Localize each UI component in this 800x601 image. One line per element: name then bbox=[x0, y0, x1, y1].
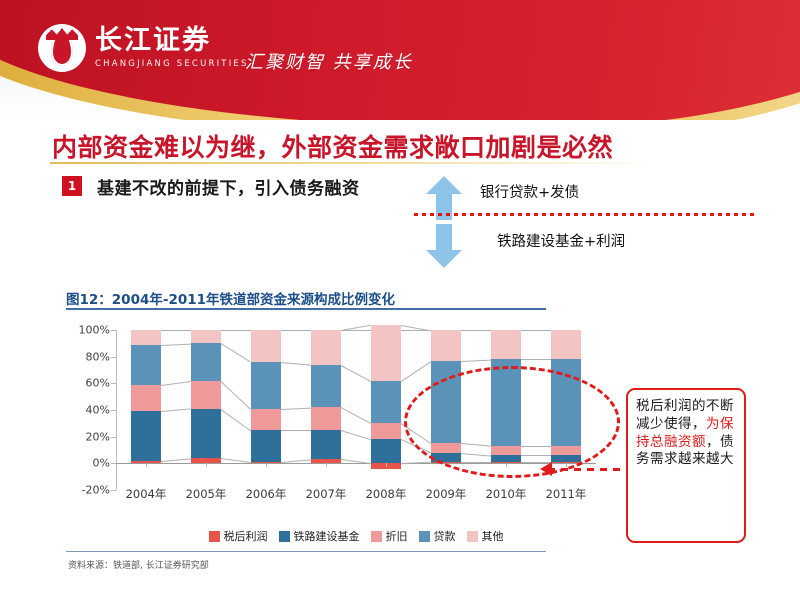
legend-swatch bbox=[371, 531, 382, 542]
stack-connector-line bbox=[341, 430, 371, 440]
stack-connector-line bbox=[461, 359, 491, 361]
flow-label-inflow: 银行贷款+发债 bbox=[480, 181, 579, 202]
chart-bar-segment bbox=[251, 362, 281, 409]
chart-bar-segment bbox=[311, 430, 341, 459]
stack-connector-line-top bbox=[521, 330, 551, 331]
title-underline bbox=[50, 162, 662, 164]
chart-bar-segment bbox=[311, 407, 341, 430]
stack-connector-line bbox=[281, 430, 311, 431]
stack-connector-line bbox=[341, 407, 371, 424]
chart-bar-segment bbox=[551, 330, 581, 359]
chart-title: 图12：2004年-2011年铁道部资金来源构成比例变化 bbox=[66, 288, 395, 308]
chart-source-note: 资料来源：铁道部, 长江证券研究部 bbox=[68, 558, 209, 571]
legend-swatch bbox=[209, 531, 220, 542]
legend-label: 其他 bbox=[482, 528, 504, 544]
x-axis-tick-label: 2006年 bbox=[246, 486, 287, 502]
stack-connector-line bbox=[521, 359, 551, 360]
legend-label: 折旧 bbox=[386, 528, 408, 544]
chart-bar-segment bbox=[131, 411, 161, 460]
stack-connector-line bbox=[401, 361, 432, 382]
x-axis-tick-label: 2004年 bbox=[126, 486, 167, 502]
stack-connector-line bbox=[220, 343, 251, 363]
legend-swatch bbox=[467, 531, 478, 542]
y-axis-tick bbox=[111, 437, 116, 438]
stack-connector-line-top bbox=[341, 330, 371, 331]
chart-bar-segment bbox=[311, 330, 341, 365]
stack-connector-line bbox=[161, 343, 191, 345]
section-subtitle: 基建不改的前提下，引入债务融资 bbox=[97, 174, 360, 199]
chart-bar-segment bbox=[191, 330, 221, 343]
chart-bar-segment bbox=[191, 381, 221, 409]
callout-connector-line bbox=[548, 468, 628, 471]
y-axis-line bbox=[116, 330, 117, 490]
chart-top-rule bbox=[66, 308, 546, 310]
header-tagline: 汇聚财智 共享成长 bbox=[245, 48, 413, 74]
x-axis-tick-label: 2005年 bbox=[186, 486, 227, 502]
callout-highlight-2: 总融资额 bbox=[650, 434, 706, 450]
section-number-badge: 1 bbox=[62, 176, 82, 196]
y-axis-tick-label: -20% bbox=[64, 484, 110, 497]
x-axis-tick-label: 2009年 bbox=[426, 486, 467, 502]
x-axis-tick bbox=[206, 463, 207, 467]
legend-item: 税后利润 bbox=[209, 528, 268, 544]
y-axis-tick-label: 60% bbox=[64, 377, 110, 390]
callout-line-3: 得， bbox=[678, 416, 706, 432]
y-axis-tick bbox=[111, 383, 116, 384]
x-axis-tick bbox=[266, 463, 267, 467]
chart-bar-segment bbox=[191, 409, 221, 458]
chart-bar-segment bbox=[251, 409, 281, 430]
chart-bar-segment bbox=[191, 343, 221, 380]
stack-connector-line bbox=[220, 409, 251, 431]
stack-connector-line-top bbox=[221, 330, 251, 331]
chart-bar-segment bbox=[491, 330, 521, 359]
stack-connector-line-top bbox=[461, 330, 491, 331]
highlight-ellipse-annotation bbox=[404, 366, 620, 478]
slide: 长江证券 CHANGJIANG SECURITIES 汇聚财智 共享成长 内部资… bbox=[0, 0, 800, 601]
stack-connector-line bbox=[281, 362, 311, 366]
legend-item: 折旧 bbox=[371, 528, 408, 544]
y-axis-tick bbox=[111, 410, 116, 411]
y-axis-tick-label: 0% bbox=[64, 457, 110, 470]
flow-label-outflow: 铁路建设基金+利润 bbox=[497, 230, 625, 251]
x-axis-tick-label: 2010年 bbox=[486, 486, 527, 502]
callout-line-4: ， bbox=[706, 434, 720, 450]
chart-bar-segment bbox=[131, 345, 161, 385]
chart-legend: 税后利润铁路建设基金折旧贷款其他 bbox=[116, 528, 596, 544]
chart-bar-segment bbox=[371, 325, 401, 381]
legend-label: 税后利润 bbox=[224, 528, 268, 544]
chart-bar-segment bbox=[251, 330, 281, 362]
chart-bar-segment bbox=[131, 385, 161, 412]
chart-bar-segment bbox=[131, 330, 161, 345]
chart-bar-segment bbox=[311, 365, 341, 408]
arrow-down-icon bbox=[424, 224, 464, 270]
stack-connector-line bbox=[281, 407, 311, 409]
slide-header: 长江证券 CHANGJIANG SECURITIES 汇聚财智 共享成长 bbox=[0, 0, 800, 120]
y-axis-tick-label: 20% bbox=[64, 430, 110, 443]
callout-line-6: 来越大 bbox=[692, 451, 734, 467]
company-logo: 长江证券 CHANGJIANG SECURITIES bbox=[38, 24, 249, 72]
callout-textbox: 税后利润的不断减少使得，为保持总融资额，债务需求越来越大 bbox=[626, 388, 746, 543]
x-axis-labels: 2004年2005年2006年2007年2008年2009年2010年2011年 bbox=[116, 486, 596, 504]
y-axis-tick-label: 100% bbox=[64, 324, 110, 337]
y-axis-tick bbox=[111, 357, 116, 358]
stack-connector-line bbox=[161, 381, 191, 386]
stack-connector-line bbox=[161, 458, 191, 462]
chart-bar-segment bbox=[371, 381, 401, 424]
stack-connector-line bbox=[341, 365, 371, 382]
logo-emblem-icon bbox=[38, 24, 86, 72]
chart-bar-segment bbox=[371, 439, 401, 463]
callout-line-1: 税后利润的 bbox=[636, 398, 706, 414]
legend-item: 贷款 bbox=[419, 528, 456, 544]
legend-item: 铁路建设基金 bbox=[279, 528, 360, 544]
chart-bar-segment bbox=[431, 330, 461, 361]
logo-brand-en: CHANGJIANG SECURITIES bbox=[95, 59, 249, 69]
y-axis-tick-label: 80% bbox=[64, 350, 110, 363]
callout-connector-arrow-icon bbox=[540, 462, 552, 476]
page-title: 内部资金难以为继，外部资金需求敞口加剧是必然 bbox=[52, 128, 613, 164]
legend-label: 贷款 bbox=[434, 528, 456, 544]
legend-swatch bbox=[419, 531, 430, 542]
chart-bar-segment bbox=[371, 423, 401, 439]
stack-connector-line-top bbox=[161, 330, 191, 331]
y-axis-tick-label: 40% bbox=[64, 404, 110, 417]
chart-bar-segment bbox=[251, 430, 281, 462]
x-axis-tick-label: 2007年 bbox=[306, 486, 347, 502]
legend-swatch bbox=[279, 531, 290, 542]
chart-bottom-rule bbox=[66, 551, 546, 552]
x-axis-tick bbox=[146, 463, 147, 467]
stack-connector-line-top bbox=[401, 330, 431, 331]
flow-divider-dotted-line bbox=[414, 213, 754, 216]
x-axis-tick bbox=[326, 463, 327, 467]
stack-connector-line bbox=[221, 458, 251, 463]
legend-label: 铁路建设基金 bbox=[294, 528, 360, 544]
x-axis-tick-label: 2008年 bbox=[366, 486, 407, 502]
legend-item: 其他 bbox=[467, 528, 504, 544]
logo-brand-cn: 长江证券 bbox=[95, 27, 249, 55]
stack-connector-line bbox=[220, 381, 251, 410]
stack-connector-line-top bbox=[281, 330, 311, 331]
x-axis-tick bbox=[386, 463, 387, 467]
y-axis-tick bbox=[111, 330, 116, 331]
stack-connector-line bbox=[161, 409, 191, 413]
x-axis-tick-label: 2011年 bbox=[546, 486, 587, 502]
